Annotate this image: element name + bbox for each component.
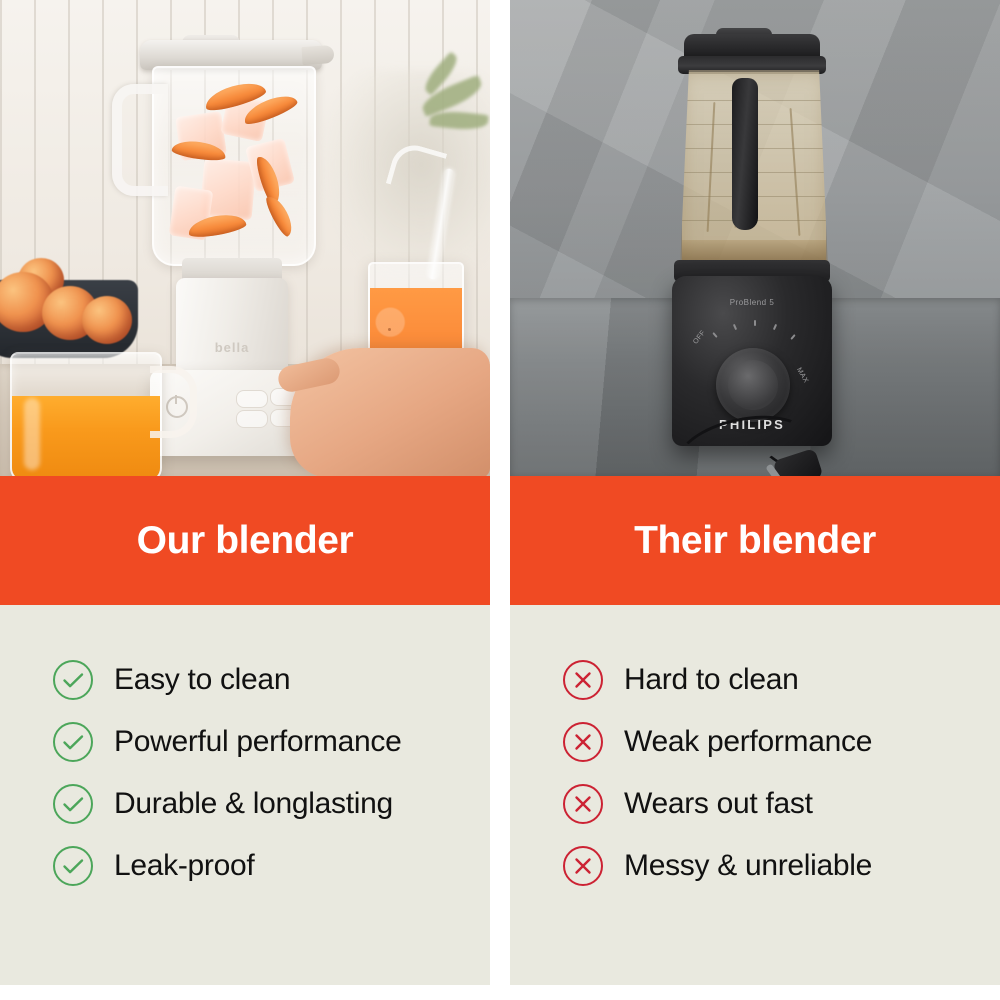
blender-blade-shaft	[732, 78, 758, 230]
list-item: Powerful performance	[0, 711, 490, 773]
list-item: Wears out fast	[510, 773, 1000, 835]
problend-badge: ProBlend 5	[672, 298, 832, 307]
list-item: Weak performance	[510, 711, 1000, 773]
our-blender-feature-list: Easy to clean Powerful performance Durab…	[0, 605, 490, 985]
list-item: Leak-proof	[0, 835, 490, 897]
speed-knob[interactable]	[716, 348, 790, 422]
our-blender-photo: bella	[0, 0, 490, 476]
blender-spout	[301, 45, 334, 65]
our-blender-banner: Our blender	[0, 476, 490, 605]
blender-body: bella	[176, 278, 288, 382]
x-circle-icon	[562, 659, 604, 701]
their-blender-title: Their blender	[634, 519, 876, 563]
check-circle-icon	[52, 783, 94, 825]
our-blender-title: Our blender	[137, 519, 354, 563]
list-item-label: Wears out fast	[624, 787, 813, 821]
their-blender-banner: Their blender	[510, 476, 1000, 605]
list-item-label: Easy to clean	[114, 663, 290, 697]
their-blender-feature-list: Hard to clean Weak performance Wears out…	[510, 605, 1000, 985]
comparison-infographic: bella Ou	[0, 0, 1000, 1000]
check-circle-icon	[52, 845, 94, 887]
list-item: Easy to clean	[0, 649, 490, 711]
list-item: Hard to clean	[510, 649, 1000, 711]
blender-jar	[152, 66, 316, 266]
juice-pitcher	[10, 352, 162, 476]
list-item-label: Durable & longlasting	[114, 787, 393, 821]
list-item-label: Messy & unreliable	[624, 849, 872, 883]
column-their-blender: ProBlend 5 OFF MAX PHILIPS	[510, 0, 1000, 1000]
list-item-label: Leak-proof	[114, 849, 254, 883]
dial-label-off: OFF	[692, 329, 707, 345]
blender-jar-handle	[112, 84, 168, 196]
x-circle-icon	[562, 721, 604, 763]
dial-label-max: MAX	[795, 367, 809, 385]
column-our-blender: bella Ou	[0, 0, 490, 1000]
bella-brand-label: bella	[176, 340, 288, 355]
philips-blender: ProBlend 5 OFF MAX PHILIPS	[650, 34, 866, 454]
x-circle-icon	[562, 783, 604, 825]
list-item-label: Weak performance	[624, 725, 872, 759]
list-item-label: Hard to clean	[624, 663, 799, 697]
x-circle-icon	[562, 845, 604, 887]
peach-slice	[263, 193, 297, 239]
check-circle-icon	[52, 659, 94, 701]
list-item-label: Powerful performance	[114, 725, 401, 759]
check-circle-icon	[52, 721, 94, 763]
pitcher-handle	[150, 366, 197, 438]
peach-fruit	[82, 296, 132, 344]
list-item: Messy & unreliable	[510, 835, 1000, 897]
their-blender-photo: ProBlend 5 OFF MAX PHILIPS	[510, 0, 1000, 476]
list-item: Durable & longlasting	[0, 773, 490, 835]
